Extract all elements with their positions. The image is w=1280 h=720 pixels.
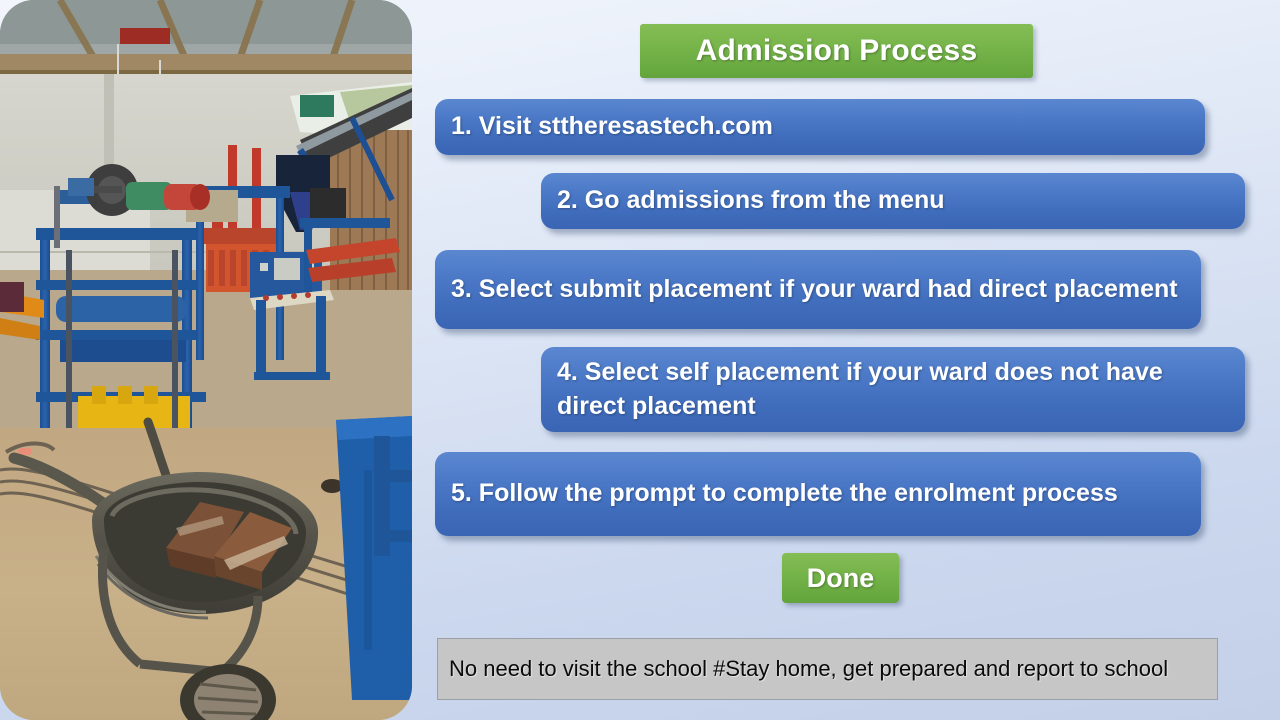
step-item-4: 4. Select self placement if your ward do… — [541, 347, 1245, 432]
step-item-1: 1. Visit sttheresastech.com — [435, 99, 1205, 155]
factory-photo — [0, 0, 412, 720]
caption-text: No need to visit the school #Stay home, … — [438, 655, 1178, 683]
page-title: Admission Process — [640, 24, 1033, 78]
step-item-2: 2. Go admissions from the menu — [541, 173, 1245, 229]
caption-banner: No need to visit the school #Stay home, … — [437, 638, 1218, 700]
step-item-5: 5. Follow the prompt to complete the enr… — [435, 452, 1201, 536]
step-item-2-label: 2. Go admissions from the menu — [541, 184, 959, 217]
done-button[interactable]: Done — [782, 553, 899, 603]
done-button-label: Done — [807, 563, 875, 594]
step-item-4-label: 4. Select self placement if your ward do… — [541, 356, 1245, 423]
step-item-5-label: 5. Follow the prompt to complete the enr… — [435, 477, 1132, 510]
step-item-3: 3. Select submit placement if your ward … — [435, 250, 1201, 329]
slide-canvas: Admission Process 1. Visit sttheresastec… — [0, 0, 1280, 720]
step-item-3-label: 3. Select submit placement if your ward … — [435, 273, 1192, 306]
page-title-text: Admission Process — [696, 34, 978, 68]
factory-photo-illustration — [0, 0, 412, 720]
step-item-1-label: 1. Visit sttheresastech.com — [435, 110, 787, 143]
